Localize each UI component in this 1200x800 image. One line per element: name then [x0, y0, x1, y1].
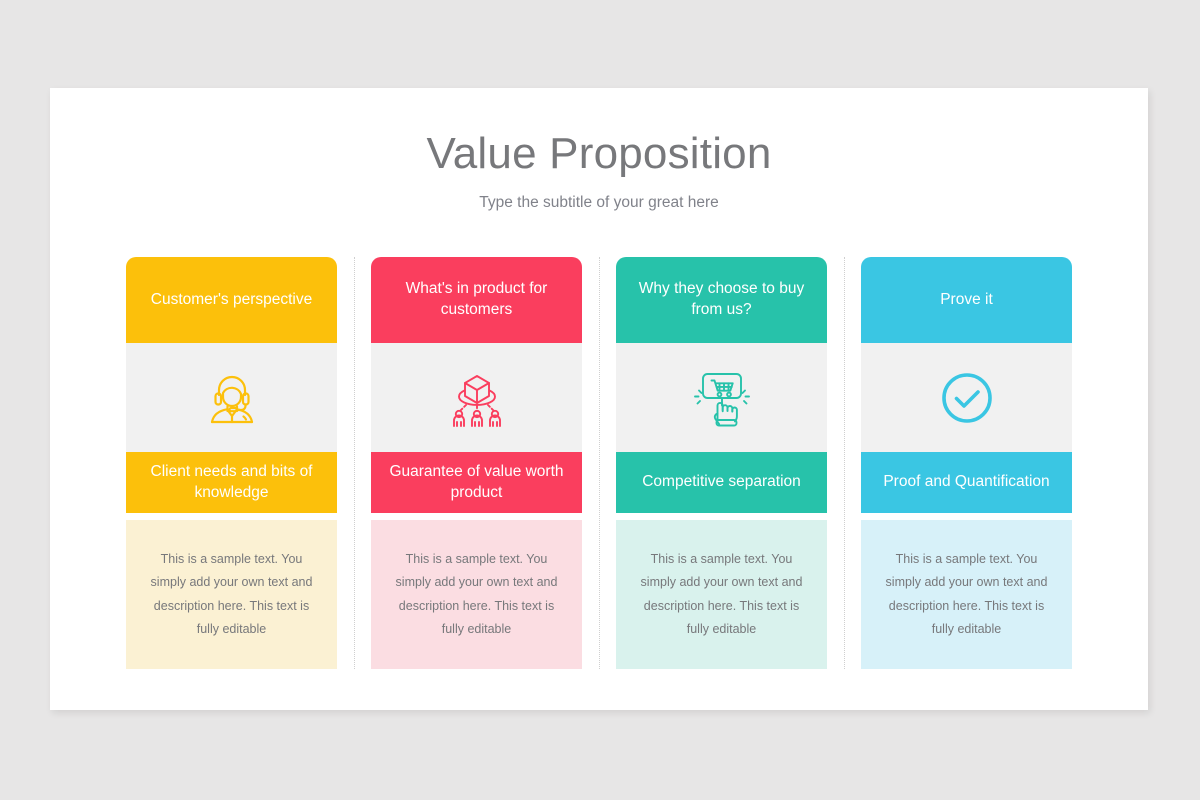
card-header: Customer's perspective — [126, 257, 337, 343]
support-agent-headset-icon — [201, 367, 263, 429]
card-icon-area — [861, 343, 1072, 452]
value-card[interactable]: Customer's perspective — [126, 257, 337, 669]
card-body: This is a sample text. You simply add yo… — [371, 520, 582, 669]
card-header: Prove it — [861, 257, 1072, 343]
value-card[interactable]: What's in product for customers — [371, 257, 582, 669]
card-body-text: This is a sample text. You simply add yo… — [878, 548, 1055, 641]
card-label: Competitive separation — [616, 452, 827, 513]
column-2: What's in product for customers — [371, 257, 582, 669]
value-card[interactable]: Why they choose to buy from us? — [616, 257, 827, 669]
value-proposition-columns: Customer's perspective — [126, 257, 1072, 669]
card-icon-area — [616, 343, 827, 452]
card-body-text: This is a sample text. You simply add yo… — [143, 548, 320, 641]
card-body: This is a sample text. You simply add yo… — [126, 520, 337, 669]
card-label: Proof and Quantification — [861, 452, 1072, 513]
check-circle-icon — [938, 369, 996, 427]
card-icon-area — [126, 343, 337, 452]
card-header: Why they choose to buy from us? — [616, 257, 827, 343]
column-1: Customer's perspective — [126, 257, 337, 669]
column-3: Why they choose to buy from us? — [616, 257, 827, 669]
product-distribution-cube-people-icon — [446, 367, 508, 429]
page-title: Value Proposition — [50, 129, 1148, 180]
card-label: Guarantee of value worth product — [371, 452, 582, 513]
column-4: Prove it Proof and Quantification This i… — [861, 257, 1072, 669]
card-header: What's in product for customers — [371, 257, 582, 343]
card-body: This is a sample text. You simply add yo… — [616, 520, 827, 669]
page-subtitle: Type the subtitle of your great here — [50, 194, 1148, 213]
value-card[interactable]: Prove it Proof and Quantification This i… — [861, 257, 1072, 669]
card-label: Client needs and bits of knowledge — [126, 452, 337, 513]
card-body-text: This is a sample text. You simply add yo… — [633, 548, 810, 641]
title-block: Value Proposition Type the subtitle of y… — [50, 129, 1148, 212]
card-body: This is a sample text. You simply add yo… — [861, 520, 1072, 669]
card-icon-area — [371, 343, 582, 452]
card-body-text: This is a sample text. You simply add yo… — [388, 548, 565, 641]
slide-canvas: Value Proposition Type the subtitle of y… — [50, 88, 1148, 710]
hand-tap-shopping-cart-icon — [691, 367, 753, 429]
